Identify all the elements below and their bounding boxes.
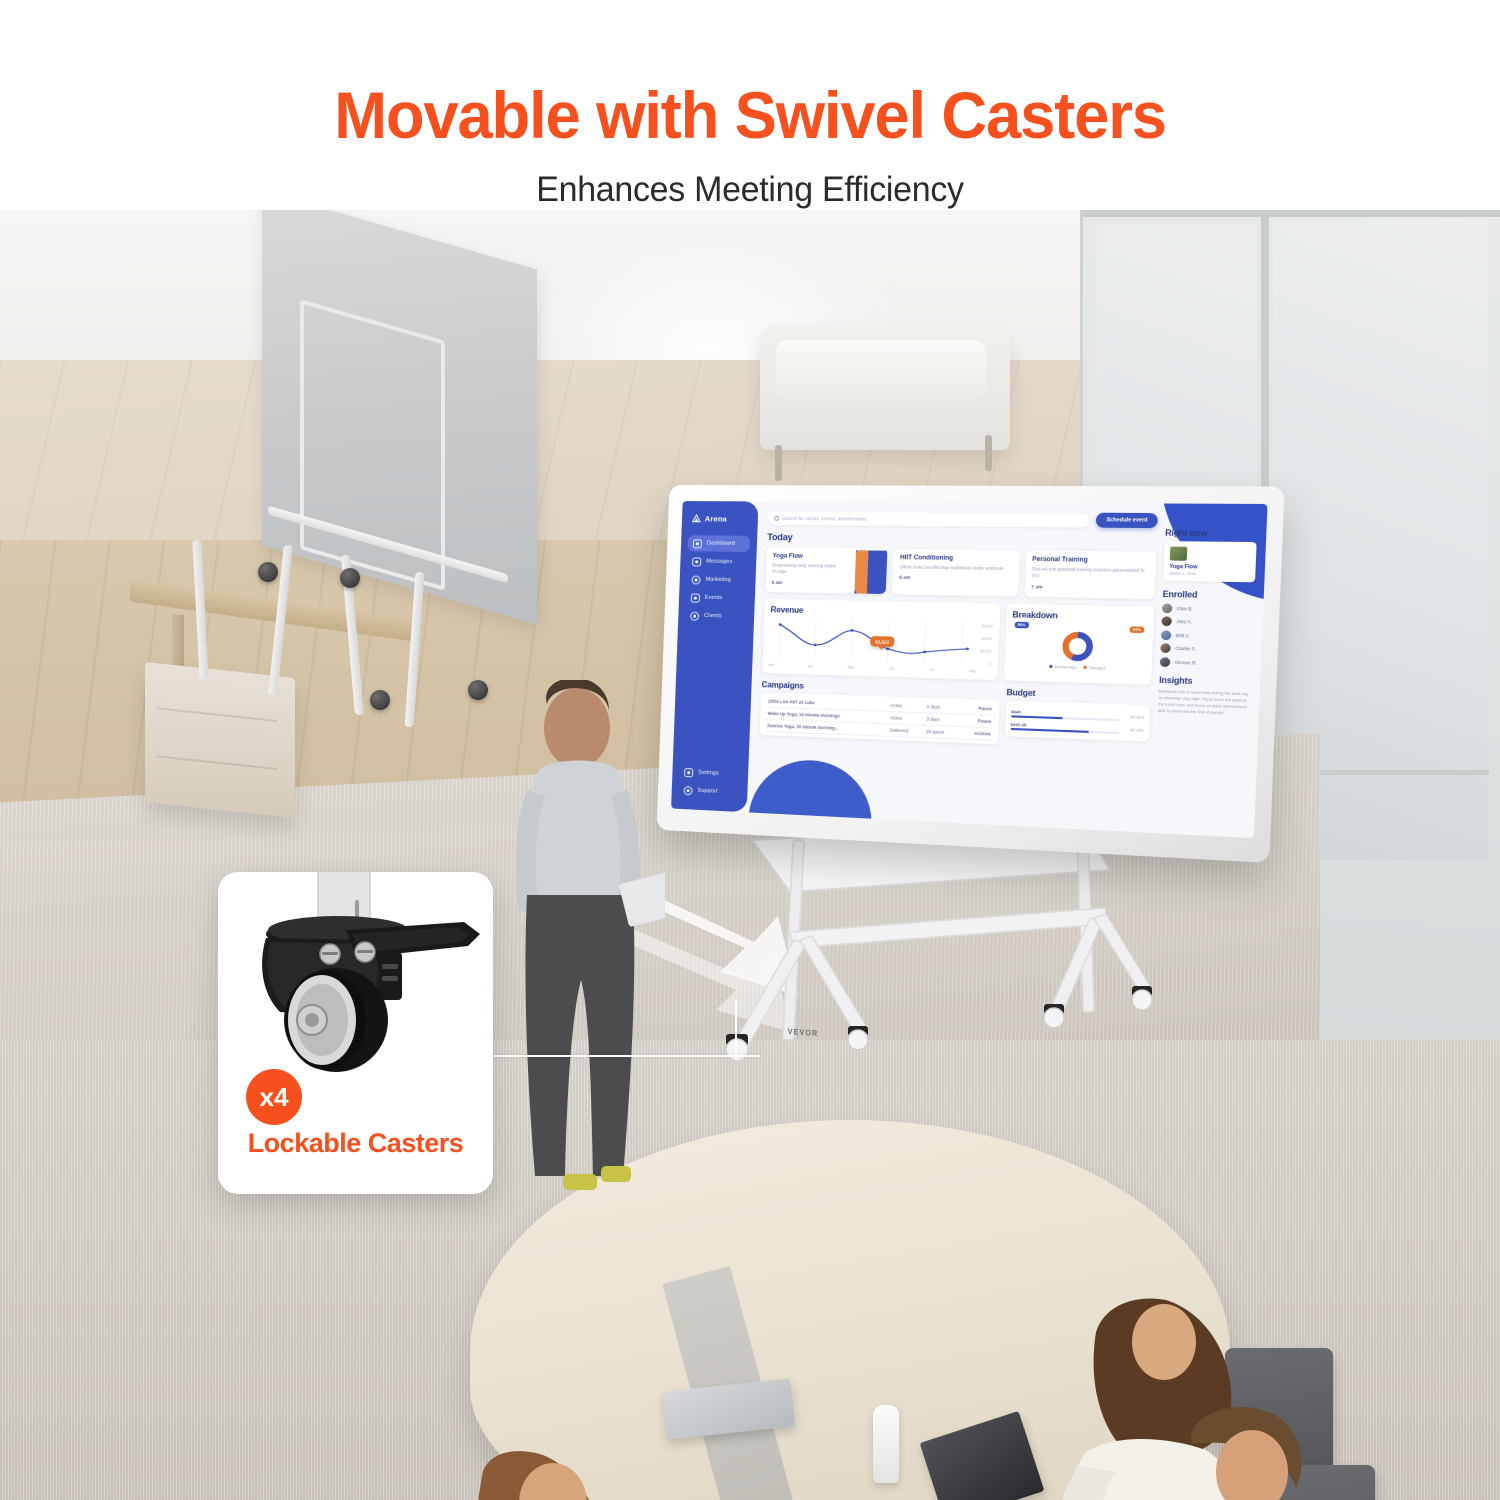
caster-wheel bbox=[1132, 986, 1152, 1010]
caster-wheel bbox=[1044, 1004, 1064, 1028]
legend-swatch bbox=[1049, 665, 1052, 668]
megaphone-icon bbox=[691, 575, 700, 584]
sidebar-item-label: Support bbox=[697, 788, 717, 795]
cabinet-drawer-line bbox=[157, 755, 277, 770]
campaign-time: 29 opens bbox=[924, 725, 960, 739]
campaign-status: Delivered bbox=[887, 723, 924, 737]
revenue-panel: Revenue bbox=[762, 599, 1000, 680]
dashboard-main: Search for clients, events, memberships … bbox=[747, 501, 1268, 838]
x-tick: Mar bbox=[768, 663, 774, 667]
budget-bar-wrap: $441.28 bbox=[1010, 721, 1119, 734]
product-scene-photo: Arena Dashboard Messages Marketing bbox=[0, 210, 1500, 1500]
callout-leader-line bbox=[735, 1000, 737, 1058]
budget-value: $1,253 bbox=[1123, 728, 1143, 733]
legend-label: Memberships bbox=[1054, 665, 1077, 670]
enrolled-name: Britt C. bbox=[1176, 632, 1191, 638]
sidebar-bottom-group: Settings Support bbox=[678, 764, 741, 803]
enrolled-title: Enrolled bbox=[1162, 589, 1254, 600]
card-title: Yoga Flow bbox=[773, 553, 882, 561]
list-item[interactable]: Simone R. bbox=[1160, 657, 1252, 669]
schedule-event-button[interactable]: Schedule event bbox=[1096, 513, 1158, 528]
budget-title: Budget bbox=[1006, 687, 1150, 701]
display-bezel: Arena Dashboard Messages Marketing bbox=[657, 485, 1285, 863]
quantity-badge: x4 bbox=[246, 1069, 302, 1125]
campaign-action-link[interactable]: Pause bbox=[960, 714, 994, 728]
callout-leader-line bbox=[490, 1055, 760, 1057]
breakdown-pct-memberships: 56% bbox=[1014, 621, 1029, 628]
budget-bar-wrap: $640 bbox=[1011, 709, 1120, 721]
budget-section: Budget $640 $2,543 bbox=[1004, 687, 1150, 749]
stand-leg bbox=[1094, 914, 1150, 992]
person-head bbox=[1132, 1304, 1196, 1380]
legend-item-memberships: Memberships bbox=[1049, 664, 1077, 669]
today-section-title: Today bbox=[767, 532, 1157, 546]
card-time: 6 am bbox=[772, 579, 881, 586]
legend-item-packages: Packages bbox=[1083, 665, 1105, 670]
sidebar-item-label: Marketing bbox=[705, 577, 731, 583]
x-tick: Jun bbox=[889, 666, 895, 670]
campaigns-section: Campaigns 20/04 Live HIIT w/ Luke Active… bbox=[760, 680, 1000, 744]
card-time: 7 am bbox=[1031, 584, 1148, 591]
breakdown-panel: Breakdown 56% 44% bbox=[1003, 603, 1154, 684]
person-shirt bbox=[523, 761, 634, 896]
insights-title: Insights bbox=[1159, 675, 1251, 687]
legend-label: Packages bbox=[1089, 665, 1106, 670]
enrolled-name: Joey A. bbox=[1176, 619, 1192, 625]
dashboard-icon bbox=[693, 539, 702, 548]
avatar bbox=[1161, 630, 1172, 640]
brand-name: Arena bbox=[705, 514, 728, 523]
breakdown-legend: Memberships Packages bbox=[1049, 664, 1106, 670]
donut-svg bbox=[1061, 630, 1095, 663]
sidebar-item-clients[interactable]: Clients bbox=[685, 607, 747, 624]
dashboard-topbar: Search for clients, events, memberships … bbox=[768, 511, 1158, 529]
cabinet-drawer-line bbox=[157, 707, 277, 722]
campaigns-table: 20/04 Live HIIT w/ Luke Active 5 days Pa… bbox=[765, 695, 994, 740]
search-placeholder: Search for clients, events, memberships bbox=[782, 515, 866, 521]
class-card-yoga-flow[interactable]: Yoga Flow Empowering early morning style… bbox=[765, 547, 888, 593]
budget-row: $640 $2,543 bbox=[1011, 709, 1144, 722]
y-tick: $6,000 bbox=[982, 624, 993, 628]
caster-wheel bbox=[370, 690, 390, 710]
budget-panel: $640 $2,543 $441.28 bbox=[1005, 700, 1151, 741]
promo-header: Movable with Swivel Casters Enhances Mee… bbox=[0, 0, 1500, 222]
stand-leg bbox=[800, 936, 866, 1032]
sofa-leg bbox=[985, 435, 992, 471]
sofa-cushion bbox=[776, 340, 986, 400]
swivel-caster-with-brake-icon bbox=[218, 872, 493, 1082]
enrolled-name: Charlie S. bbox=[1175, 646, 1196, 652]
sidebar-item-label: Settings bbox=[698, 770, 719, 777]
breakdown-title: Breakdown bbox=[1012, 610, 1147, 622]
legend-swatch bbox=[1083, 666, 1086, 669]
avatar bbox=[1162, 603, 1173, 613]
avatar bbox=[1160, 657, 1171, 667]
right-now-card[interactable]: Yoga Flow Studio 1 · Now bbox=[1163, 541, 1256, 582]
card-description: Offers more benefits than traditional ca… bbox=[900, 564, 1013, 572]
person-shoe bbox=[563, 1174, 597, 1190]
right-now-class-meta: Studio 1 · Now bbox=[1169, 571, 1250, 577]
brand: Arena bbox=[692, 514, 751, 524]
y-tick: 0 bbox=[989, 662, 991, 666]
y-tick: $4,000 bbox=[981, 636, 992, 640]
class-thumbnail-icon bbox=[1170, 547, 1188, 561]
today-cards: Yoga Flow Empowering early morning style… bbox=[765, 547, 1156, 598]
page-subtitle: Enhances Meeting Efficiency bbox=[23, 170, 1478, 210]
breakdown-donut-chart: 56% 44% Membershi bbox=[1010, 621, 1146, 671]
person-seated-right-front bbox=[1140, 1400, 1380, 1500]
avatar bbox=[1161, 616, 1172, 626]
sidebar-item-dashboard[interactable]: Dashboard bbox=[688, 535, 750, 552]
card-description: Empowering early morning styles of yoga bbox=[772, 563, 837, 577]
class-card-hiit-conditioning[interactable]: HIIT Conditioning Offers more benefits t… bbox=[892, 549, 1019, 596]
campaigns-table-panel: 20/04 Live HIIT w/ Luke Active 5 days Pa… bbox=[760, 692, 1000, 744]
insights-text: Members love to make time during the wor… bbox=[1158, 688, 1251, 717]
budget-row: $441.28 $1,253 bbox=[1010, 721, 1143, 734]
avatar bbox=[1160, 643, 1171, 653]
envelope-icon bbox=[692, 557, 701, 566]
budget-value: $2,543 bbox=[1124, 715, 1144, 720]
sidebar-item-messages[interactable]: Messages bbox=[687, 553, 749, 570]
search-input[interactable]: Search for clients, events, memberships bbox=[768, 511, 1090, 527]
interactive-whiteboard-display[interactable]: Arena Dashboard Messages Marketing bbox=[657, 485, 1285, 863]
sidebar-item-events[interactable]: Events bbox=[686, 589, 748, 606]
x-tick: Jul bbox=[929, 667, 934, 671]
caster-wheel bbox=[340, 568, 360, 588]
revenue-y-axis: $6,000 $4,000 $2,000 0 bbox=[980, 624, 993, 666]
list-item[interactable]: Charlie S. bbox=[1160, 643, 1252, 655]
sidebar-item-label: Events bbox=[705, 595, 723, 601]
caster-wheel bbox=[848, 1026, 868, 1050]
class-card-personal-training[interactable]: Personal Training One-on-one personal tr… bbox=[1024, 550, 1156, 598]
card-title: HIIT Conditioning bbox=[900, 555, 1013, 563]
card-title: Personal Training bbox=[1032, 557, 1149, 565]
revenue-line-chart: $1,522 $6,000 $4,000 $2,000 0 bbox=[769, 617, 993, 668]
lifebuoy-icon bbox=[683, 786, 692, 795]
sidebar-item-label: Dashboard bbox=[707, 540, 735, 546]
users-icon bbox=[690, 611, 699, 620]
inset-caption: Lockable Casters bbox=[218, 1128, 493, 1159]
person-trousers bbox=[525, 895, 634, 1176]
app-sidebar[interactable]: Arena Dashboard Messages Marketing bbox=[671, 501, 758, 812]
dashboard-right-column: Right now Yoga Flow Studio 1 · Now Enrol… bbox=[1153, 513, 1258, 831]
list-item[interactable]: Joey A. bbox=[1161, 616, 1253, 628]
person-standing bbox=[505, 680, 665, 1220]
x-tick: Apr bbox=[808, 664, 814, 668]
list-item[interactable]: Britt C. bbox=[1161, 630, 1253, 642]
sidebar-item-label: Messages bbox=[706, 559, 732, 565]
triangle-logo-icon bbox=[692, 514, 701, 523]
sidebar-item-label: Clients bbox=[704, 613, 722, 619]
revenue-title: Revenue bbox=[770, 605, 993, 619]
enrolled-name: Glen B. bbox=[1177, 605, 1193, 611]
person-seated-left bbox=[425, 1425, 655, 1500]
card-description: One-on-one personal training sessions pe… bbox=[1031, 566, 1149, 581]
enrolled-list: Glen B. Joey A. Britt C. bbox=[1160, 603, 1254, 669]
person-head bbox=[544, 688, 610, 768]
right-now-class-name: Yoga Flow bbox=[1169, 564, 1250, 572]
caster-wheel bbox=[468, 680, 488, 700]
revenue-tooltip: $1,522 bbox=[870, 636, 895, 647]
list-item[interactable]: Glen B. bbox=[1162, 603, 1254, 615]
folded-whiteboard-mount bbox=[300, 299, 445, 591]
caster-detail-card: x4 Lockable Casters bbox=[218, 872, 493, 1194]
right-now-title: Right now bbox=[1165, 528, 1257, 539]
card-time: 6 am bbox=[899, 575, 1012, 582]
campaign-action-link[interactable]: Archive bbox=[959, 726, 993, 740]
x-tick: May bbox=[847, 665, 854, 669]
page-title: Movable with Swivel Casters bbox=[30, 82, 1470, 148]
sidebar-item-marketing[interactable]: Marketing bbox=[686, 571, 748, 588]
sidebar-item-settings[interactable]: Settings bbox=[679, 764, 741, 783]
water-bottle bbox=[873, 1405, 899, 1483]
enrolled-name: Simone R. bbox=[1175, 659, 1198, 665]
person-shoe bbox=[601, 1166, 631, 1182]
sofa-leg bbox=[775, 445, 782, 481]
y-tick: $2,000 bbox=[981, 649, 992, 653]
calendar-icon bbox=[691, 593, 700, 602]
dashboard-primary-column: Search for clients, events, memberships … bbox=[757, 511, 1158, 827]
caster-wheel bbox=[258, 562, 278, 582]
breakdown-pct-packages: 44% bbox=[1129, 626, 1144, 633]
dashboard-screen[interactable]: Arena Dashboard Messages Marketing bbox=[671, 501, 1267, 838]
stand-shelf bbox=[790, 908, 1108, 948]
gear-icon bbox=[684, 767, 693, 776]
search-icon bbox=[774, 515, 779, 520]
x-tick: Aug bbox=[969, 668, 976, 672]
campaigns-row: Campaigns 20/04 Live HIIT w/ Luke Active… bbox=[760, 680, 1151, 750]
analytics-row: Revenue bbox=[762, 599, 1154, 685]
sidebar-item-support[interactable]: Support bbox=[678, 782, 740, 801]
